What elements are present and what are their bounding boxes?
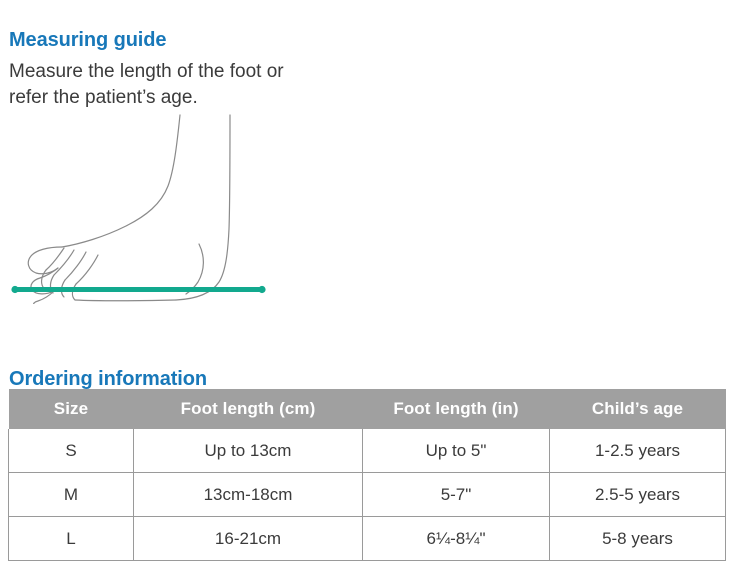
cell-child-age: 1-2.5 years bbox=[550, 429, 726, 473]
foot-illustration bbox=[0, 104, 300, 304]
column-header-foot-length-cm: Foot length (cm) bbox=[134, 389, 363, 429]
cell-child-age: 5-8 years bbox=[550, 517, 726, 561]
cell-foot-length-in: 5-7" bbox=[363, 473, 550, 517]
table-header-row: Size Foot length (cm) Foot length (in) C… bbox=[9, 389, 726, 429]
column-header-foot-length-in: Foot length (in) bbox=[363, 389, 550, 429]
measuring-guide-heading: Measuring guide bbox=[9, 28, 166, 52]
cell-foot-length-cm: Up to 13cm bbox=[134, 429, 363, 473]
cell-size: S bbox=[9, 429, 134, 473]
document-page: Measuring guide Measure the length of th… bbox=[0, 0, 746, 579]
cell-size: L bbox=[9, 517, 134, 561]
measuring-line-icon bbox=[11, 286, 265, 293]
table-row: M 13cm-18cm 5-7" 2.5-5 years bbox=[9, 473, 726, 517]
cell-foot-length-cm: 16-21cm bbox=[134, 517, 363, 561]
foot-outline-icon bbox=[28, 115, 230, 304]
column-header-size: Size bbox=[9, 389, 134, 429]
table-row: S Up to 13cm Up to 5" 1-2.5 years bbox=[9, 429, 726, 473]
cell-foot-length-in: Up to 5" bbox=[363, 429, 550, 473]
table-row: L 16-21cm 6¼-8¼" 5-8 years bbox=[9, 517, 726, 561]
cell-foot-length-in: 6¼-8¼" bbox=[363, 517, 550, 561]
cell-child-age: 2.5-5 years bbox=[550, 473, 726, 517]
ordering-information-table: Size Foot length (cm) Foot length (in) C… bbox=[8, 389, 726, 561]
cell-size: M bbox=[9, 473, 134, 517]
cell-foot-length-cm: 13cm-18cm bbox=[134, 473, 363, 517]
ordering-information-heading: Ordering information bbox=[9, 367, 207, 391]
column-header-child-age: Child’s age bbox=[550, 389, 726, 429]
